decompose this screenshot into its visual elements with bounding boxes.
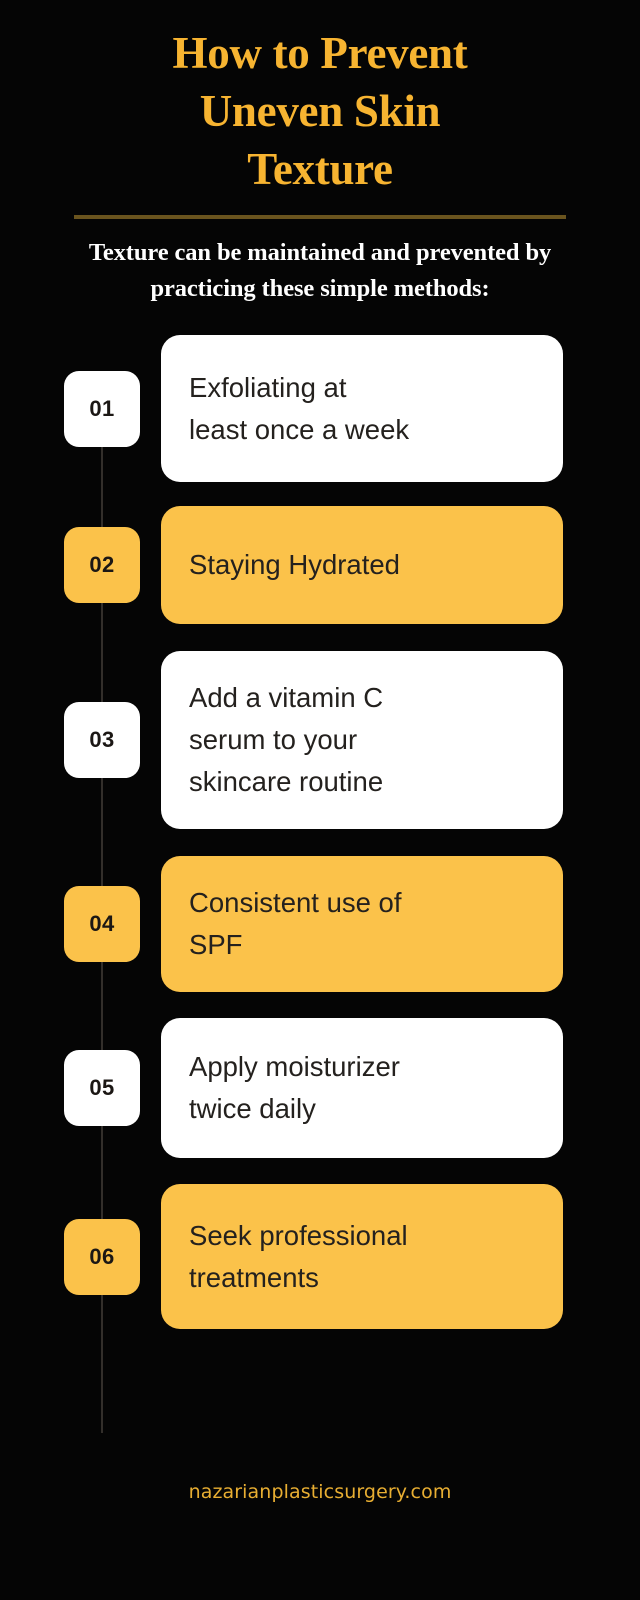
step-card[interactable]: Add a vitamin C serum to your skincare r… [161, 651, 563, 829]
step-text-line: Seek professional [189, 1215, 535, 1257]
step-card[interactable]: Consistent use of SPF [161, 856, 563, 992]
infographic-poster: How to Prevent Uneven Skin Texture Textu… [0, 0, 640, 1600]
list-item[interactable]: 05 Apply moisturizer twice daily [0, 1018, 640, 1158]
step-text-line: SPF [189, 924, 535, 966]
list-item[interactable]: 04 Consistent use of SPF [0, 856, 640, 992]
step-number-badge: 05 [64, 1050, 140, 1126]
step-number-label: 01 [89, 396, 114, 422]
step-text-line: serum to your [189, 719, 535, 761]
list-item[interactable]: 06 Seek professional treatments [0, 1184, 640, 1329]
step-text-line: twice daily [189, 1088, 535, 1130]
page-title: How to Prevent Uneven Skin Texture [66, 24, 574, 198]
step-text-line: Consistent use of [189, 882, 535, 924]
step-text-line: skincare routine [189, 761, 535, 803]
poster-subtitle: Texture can be maintained and prevented … [66, 219, 574, 307]
page-title-line-2: Uneven Skin [200, 86, 441, 136]
step-number-badge: 06 [64, 1219, 140, 1295]
step-number-badge: 01 [64, 371, 140, 447]
website-url[interactable]: nazarianplasticsurgery.com [189, 1481, 452, 1503]
list-item[interactable]: 02 Staying Hydrated [0, 506, 640, 624]
step-card[interactable]: Apply moisturizer twice daily [161, 1018, 563, 1158]
poster-subtitle-line-3: methods: [394, 275, 490, 302]
poster-subtitle-line-1: Texture can be maintained and [89, 239, 410, 266]
step-number-badge: 03 [64, 702, 140, 778]
poster-header: How to Prevent Uneven Skin Texture Textu… [0, 0, 640, 307]
step-card[interactable]: Seek professional treatments [161, 1184, 563, 1329]
poster-footer: nazarianplasticsurgery.com [0, 1481, 640, 1503]
step-card[interactable]: Exfoliating at least once a week [161, 335, 563, 482]
step-number-label: 06 [89, 1244, 114, 1270]
step-list: 01 Exfoliating at least once a week 02 S… [0, 335, 640, 1329]
step-number-badge: 02 [64, 527, 140, 603]
step-number-label: 03 [89, 727, 114, 753]
list-item[interactable]: 01 Exfoliating at least once a week [0, 335, 640, 482]
step-number-badge: 04 [64, 886, 140, 962]
step-text-line: least once a week [189, 409, 535, 451]
page-title-line-1: How to Prevent [173, 28, 468, 78]
step-card[interactable]: Staying Hydrated [161, 506, 563, 624]
step-text-line: Add a vitamin C [189, 677, 535, 719]
list-item[interactable]: 03 Add a vitamin C serum to your skincar… [0, 651, 640, 829]
step-text-line: treatments [189, 1257, 535, 1299]
step-number-label: 02 [89, 552, 114, 578]
step-text-line: Apply moisturizer [189, 1046, 535, 1088]
step-text-line: Exfoliating at [189, 367, 535, 409]
step-number-label: 04 [89, 911, 114, 937]
step-number-label: 05 [89, 1075, 114, 1101]
page-title-line-3: Texture [247, 144, 392, 194]
step-text-line: Staying Hydrated [189, 544, 535, 586]
